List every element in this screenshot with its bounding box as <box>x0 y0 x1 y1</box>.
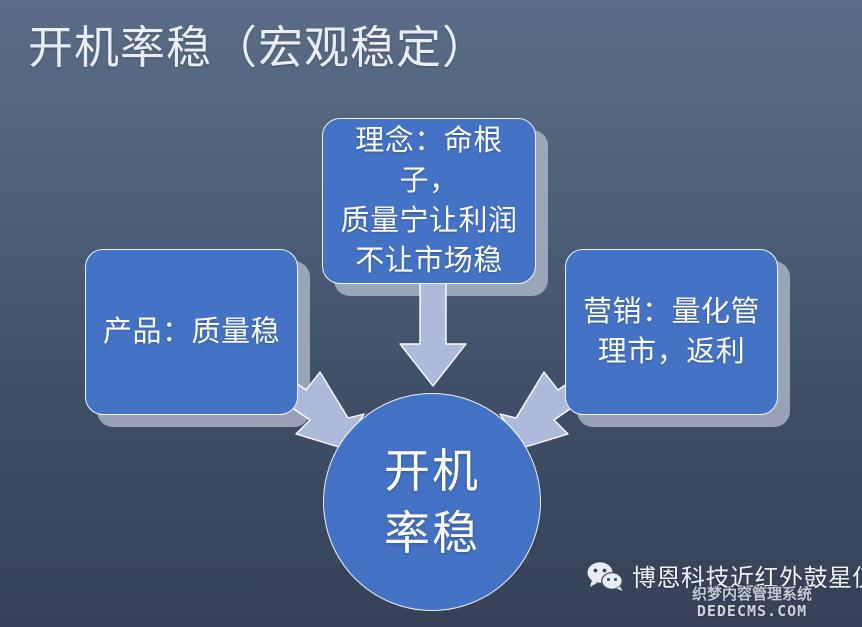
concept-box[interactable]: 理念：命根子， 质量宁让利润 不让市场稳 <box>322 118 536 284</box>
page-title: 开机率稳（宏观稳定） <box>28 21 488 76</box>
arrow-down-icon <box>398 282 468 388</box>
concept-box-label: 理念：命根子， 质量宁让利润 不让市场稳 <box>323 121 535 281</box>
watermark-en-line: DEDECMS.COM <box>692 603 812 620</box>
wechat-icon <box>586 561 624 591</box>
result-circle-label: 开机 率稳 <box>384 440 480 564</box>
product-box-label: 产品：质量稳 <box>97 312 286 352</box>
presentation-slide: 开机率稳（宏观稳定） 理念：命根子， 质量宁让利润 不让市场稳 产品：质量稳 营… <box>0 0 862 627</box>
product-box[interactable]: 产品：质量稳 <box>85 249 298 415</box>
watermark-cn-line: 织梦内容管理系统 <box>692 587 812 603</box>
result-circle[interactable]: 开机 率稳 <box>323 393 541 611</box>
dedecms-watermark: 织梦内容管理系统 DEDECMS.COM <box>692 587 812 620</box>
marketing-box[interactable]: 营销：量化管 理市，返利 <box>565 249 778 415</box>
marketing-box-label: 营销：量化管 理市，返利 <box>577 292 766 372</box>
